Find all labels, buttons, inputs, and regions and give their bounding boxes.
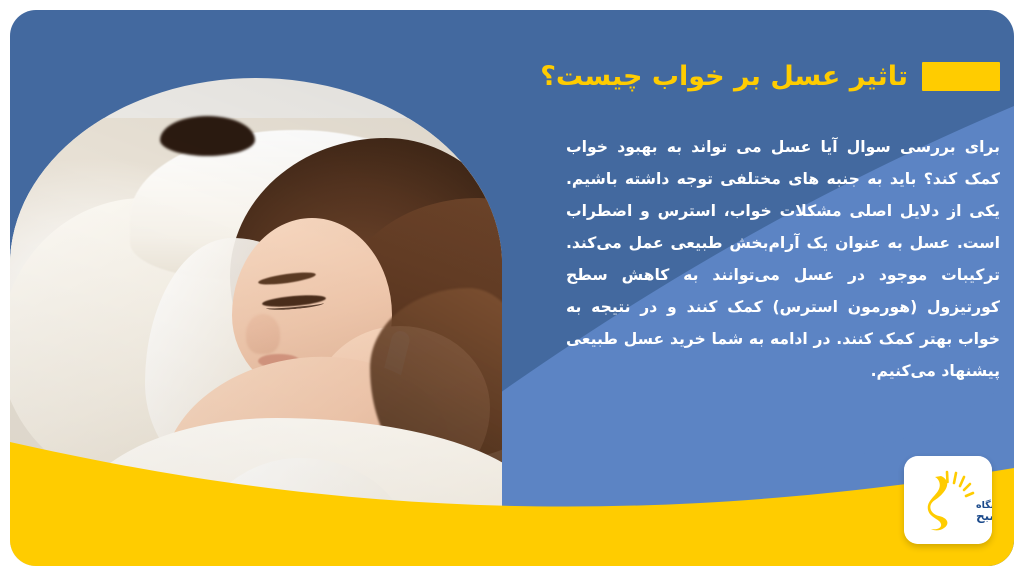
logo-line2: صبح [976, 509, 992, 523]
page-title: تاثیر عسل بر خواب چیست؟ [540, 62, 908, 92]
logo-artwork: فروشگاه صبح [904, 456, 992, 544]
brand-logo[interactable]: فروشگاه صبح [904, 456, 992, 544]
infographic-card: تاثیر عسل بر خواب چیست؟ برای بررسی سوال … [10, 10, 1014, 566]
bottom-waves [10, 346, 1014, 566]
infographic-stage: تاثیر عسل بر خواب چیست؟ برای بررسی سوال … [0, 0, 1024, 576]
yellow-accent-bar [922, 62, 1000, 91]
text-column: تاثیر عسل بر خواب چیست؟ برای بررسی سوال … [560, 10, 1000, 403]
title-row: تاثیر عسل بر خواب چیست؟ [560, 44, 1000, 110]
